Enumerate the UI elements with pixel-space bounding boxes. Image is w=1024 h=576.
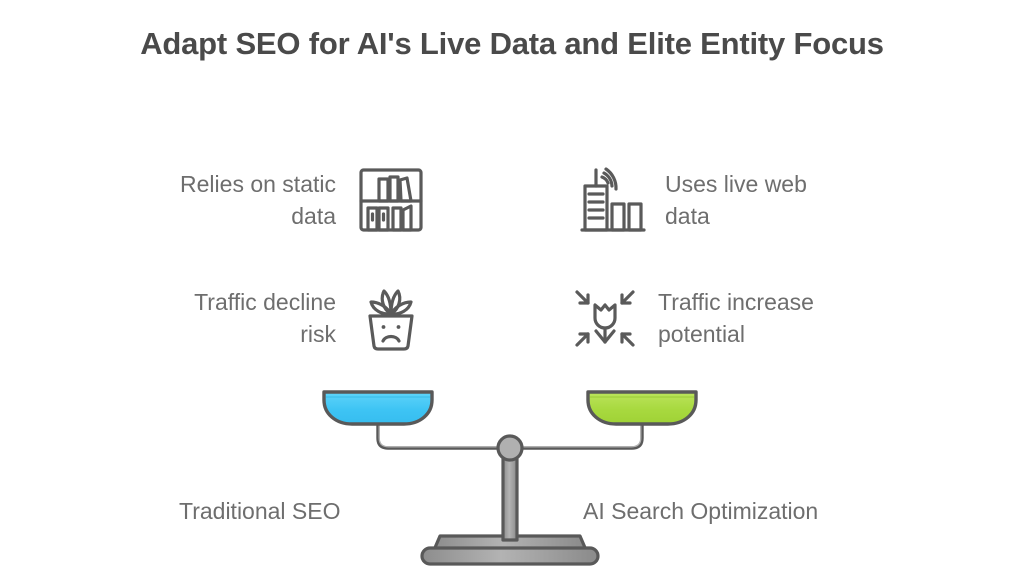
balance-scale-graphic (300, 378, 720, 568)
tulip-inward-arrows-icon (568, 281, 642, 355)
scale-pan-right (588, 392, 696, 424)
feature-traffic-decline-risk: Traffic decline risk (150, 281, 428, 355)
feature-uses-live-web-data: Uses live web data (575, 163, 885, 237)
bookshelf-icon (354, 163, 428, 237)
sad-potted-plant-icon (354, 281, 428, 355)
feature-label-traffic-increase: Traffic increase potential (658, 286, 814, 350)
feature-label-live-web-data: Uses live web data (665, 168, 807, 232)
broadcast-tower-icon (575, 163, 649, 237)
scale-pan-left (324, 392, 432, 424)
feature-relies-on-static-data: Relies on static data (140, 163, 428, 237)
feature-label-static-data: Relies on static data (180, 168, 336, 232)
page-title: Adapt SEO for AI's Live Data and Elite E… (140, 22, 884, 65)
scale-label-ai-search-optimization: AI Search Optimization (583, 496, 818, 526)
feature-traffic-increase-potential: Traffic increase potential (568, 281, 888, 355)
infographic-canvas: Adapt SEO for AI's Live Data and Elite E… (0, 0, 1024, 576)
scale-label-traditional-seo: Traditional SEO (179, 496, 341, 526)
feature-label-traffic-decline: Traffic decline risk (194, 286, 336, 350)
